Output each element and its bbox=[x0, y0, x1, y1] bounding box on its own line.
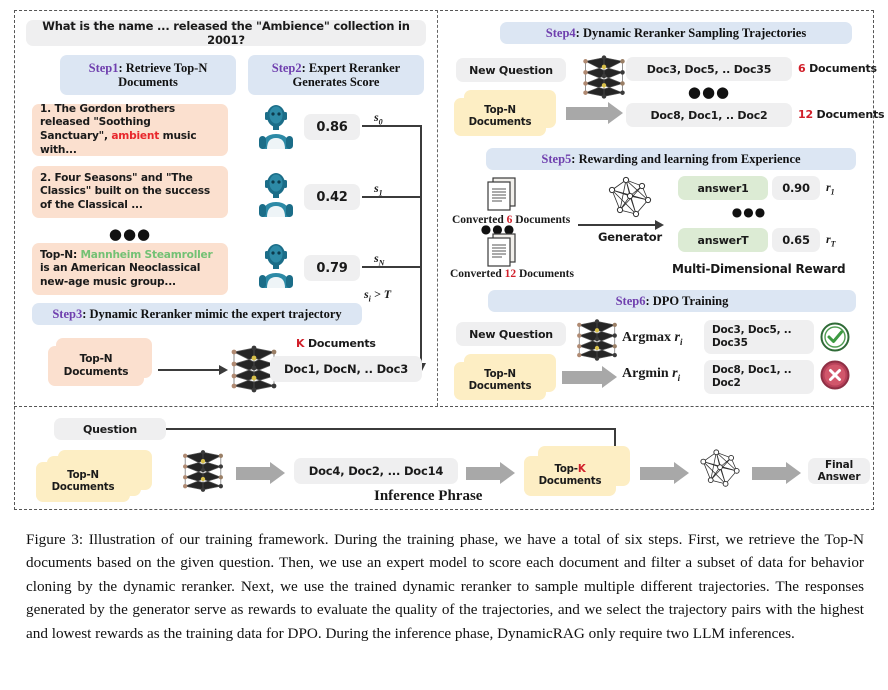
step5-answers-ellipsis: ●●● bbox=[678, 205, 820, 219]
step4-header: Step4: Dynamic Reranker Sampling Traject… bbox=[500, 22, 852, 44]
inference-topn-line2: Documents bbox=[52, 482, 115, 495]
step4-traj2-count-label: Documents bbox=[813, 108, 884, 121]
rejected-line1: Doc8, Doc1, .. bbox=[712, 364, 791, 377]
generator-arrow-line bbox=[578, 224, 656, 226]
inference-doclist: Doc4, Doc2, ... Doc14 bbox=[294, 458, 458, 484]
inference-arrow-1 bbox=[236, 462, 285, 484]
step1-header: Step1: Retrieve Top-N Documents bbox=[60, 55, 236, 95]
step2-number: Step2 bbox=[272, 61, 302, 75]
expert-score-1: 0.86 bbox=[304, 114, 360, 140]
inference-topk-line1: Top-K bbox=[554, 464, 585, 477]
step3-topn-line1: Top-N bbox=[80, 353, 113, 366]
step2-title: : Expert Reranker bbox=[302, 61, 401, 75]
converted2-num: 12 bbox=[505, 268, 517, 280]
inference-topn-card-stack: Top-N Documents bbox=[36, 450, 156, 502]
answer-t-score: 0.65 bbox=[772, 228, 820, 252]
docN-highlight: Mannheim Steamroller bbox=[80, 249, 212, 261]
figure-caption: Figure 3: Illustration of our training f… bbox=[26, 528, 864, 645]
docN-suffix: is an American Neoclassical new-age musi… bbox=[40, 262, 200, 288]
argmax-text: Argmax bbox=[622, 330, 675, 345]
generator-label: Generator bbox=[598, 230, 662, 244]
expert-robot-icon-1 bbox=[256, 104, 296, 150]
doc2-prefix: 2. Four Seasons" and "The Classics" buil… bbox=[40, 172, 210, 211]
step3-number: Step3 bbox=[52, 307, 82, 321]
score-bracket-vertical bbox=[420, 125, 422, 365]
inference-reranker-network-icon bbox=[178, 446, 228, 496]
step2-header-line2: Generates Score bbox=[293, 75, 380, 89]
converted1-post: Documents bbox=[512, 214, 570, 226]
score-symbol-2: s1 bbox=[374, 181, 383, 197]
inference-question-route-line bbox=[166, 428, 616, 430]
step4-ellipsis: ●●● bbox=[626, 83, 792, 101]
inference-generator-network-icon bbox=[694, 444, 746, 494]
score-symbol-3-sub: N bbox=[379, 258, 385, 267]
step4-number: Step4 bbox=[546, 26, 576, 40]
input-question-box: What is the name ... released the "Ambie… bbox=[26, 20, 426, 46]
inference-final-answer: Final Answer bbox=[808, 458, 870, 484]
step4-trajectory-2-count: 12 Documents bbox=[798, 108, 884, 121]
step2-header: Step2: Expert Reranker Generates Score bbox=[248, 55, 424, 95]
inference-phase-title: Inference Phrase bbox=[374, 488, 482, 505]
step4-title: : Dynamic Reranker Sampling Trajectories bbox=[576, 26, 807, 40]
step4-trajectory-1-count: 6 Documents bbox=[798, 62, 877, 75]
expert-score-3: 0.79 bbox=[304, 255, 360, 281]
threshold-rest: > T bbox=[371, 287, 391, 301]
score-line-1 bbox=[362, 125, 422, 127]
step4-topn-line1: Top-N bbox=[484, 105, 516, 118]
step3-topn-line2: Documents bbox=[64, 366, 129, 379]
topk-k: K bbox=[578, 464, 586, 475]
step6-flow-arrow bbox=[562, 366, 617, 388]
panel-vertical-divider bbox=[437, 10, 438, 406]
retrieved-document-topn: Top-N: Mannheim Steamroller is an Americ… bbox=[32, 243, 228, 295]
topk-prefix: Top- bbox=[554, 464, 577, 475]
expert-robot-icon-3 bbox=[256, 243, 296, 289]
step6-header-line1: Step6: DPO Training bbox=[616, 294, 729, 308]
converted-documents-icon-1 bbox=[485, 176, 519, 212]
generator-arrow-head bbox=[655, 220, 664, 230]
score-threshold-condition: si > T bbox=[364, 287, 391, 303]
converted2-post: Documents bbox=[516, 268, 574, 280]
argmax-label: Argmax ri bbox=[622, 330, 682, 347]
expert-robot-icon-2 bbox=[256, 172, 296, 218]
argmin-text: Argmin bbox=[622, 366, 672, 381]
doc1-highlight: ambient bbox=[111, 130, 159, 142]
step6-reranker-network-icon bbox=[572, 316, 622, 364]
step5-number: Step5 bbox=[541, 152, 571, 166]
panel-horizontal-divider bbox=[14, 406, 874, 407]
step6-header: Step6: DPO Training bbox=[488, 290, 856, 312]
step3-k-documents-label: K Documents bbox=[296, 337, 376, 350]
step4-traj2-count-value: 12 bbox=[798, 108, 813, 121]
step6-title: : DPO Training bbox=[645, 294, 728, 308]
step4-trajectory-1: Doc3, Doc5, .. Doc35 bbox=[626, 57, 792, 81]
converted-documents-label-2: Converted 12 Documents bbox=[450, 268, 574, 280]
inference-question-box: Question bbox=[54, 418, 166, 440]
step4-header-line1: Step4: Dynamic Reranker Sampling Traject… bbox=[546, 26, 806, 40]
docN-prefix: Top-N: bbox=[40, 249, 80, 261]
step6-topn-line1: Top-N bbox=[484, 369, 516, 382]
generator-network-icon bbox=[602, 172, 658, 224]
step6-chosen-trajectory: Doc3, Doc5, .. Doc35 bbox=[704, 320, 814, 354]
step1-header-line2: Documents bbox=[118, 75, 178, 89]
retrieved-document-2: 2. Four Seasons" and "The Classics" buil… bbox=[32, 166, 228, 218]
step1-title: : Retrieve Top-N bbox=[119, 61, 208, 75]
step4-new-question: New Question bbox=[456, 58, 566, 82]
step5-title: : Rewarding and learning from Experience bbox=[571, 152, 800, 166]
inference-arrow-3 bbox=[640, 462, 689, 484]
argmax-sub: i bbox=[680, 337, 683, 347]
inference-topk-line2: Documents bbox=[539, 476, 602, 489]
step1-header-line1: Step1: Retrieve Top-N bbox=[89, 61, 208, 75]
step4-topn-card-stack: Top-N Documents bbox=[454, 90, 558, 136]
step1-ellipsis: ●●● bbox=[32, 225, 228, 243]
figure-root: What is the name ... released the "Ambie… bbox=[0, 0, 888, 690]
multi-dimensional-reward-label: Multi-Dimensional Reward bbox=[672, 262, 845, 276]
cross-circle-icon bbox=[820, 360, 850, 390]
step6-number: Step6 bbox=[616, 294, 646, 308]
step6-topn-card-stack: Top-N Documents bbox=[454, 354, 558, 400]
chosen-line1: Doc3, Doc5, .. bbox=[712, 324, 791, 337]
step3-k-text: Documents bbox=[304, 337, 375, 350]
step3-topn-card-stack: Top-N Documents bbox=[48, 338, 152, 386]
score-symbol-2-sub: 1 bbox=[379, 188, 383, 197]
argmin-sub: i bbox=[678, 373, 681, 383]
chosen-line2: Doc35 bbox=[712, 337, 748, 350]
step4-topn-line2: Documents bbox=[469, 117, 532, 130]
step3-title: : Dynamic Reranker mimic the expert traj… bbox=[82, 307, 341, 321]
rejected-line2: Doc2 bbox=[712, 377, 741, 390]
converted2-pre: Converted bbox=[450, 268, 505, 280]
generated-answer-t: answerT bbox=[678, 228, 768, 252]
converted-documents-icon-2 bbox=[485, 232, 519, 268]
step6-new-question: New Question bbox=[456, 322, 566, 346]
step4-trajectory-2: Doc8, Doc1, .. Doc2 bbox=[626, 103, 792, 127]
step3-header: Step3: Dynamic Reranker mimic the expert… bbox=[32, 303, 362, 325]
rT-sub: T bbox=[831, 239, 836, 248]
step5-header: Step5: Rewarding and learning from Exper… bbox=[486, 148, 856, 170]
step1-number: Step1 bbox=[89, 61, 119, 75]
score-line-2 bbox=[362, 196, 422, 198]
score-symbol-3: sN bbox=[374, 251, 384, 267]
expert-score-2: 0.42 bbox=[304, 184, 360, 210]
step2-header-line1: Step2: Expert Reranker bbox=[272, 61, 400, 75]
answer-1-score: 0.90 bbox=[772, 176, 820, 200]
generated-answer-1: answer1 bbox=[678, 176, 768, 200]
r1-sub: 1 bbox=[831, 187, 835, 196]
inference-arrow-2 bbox=[466, 462, 515, 484]
step4-flow-arrow bbox=[566, 102, 623, 124]
step4-reranker-network-icon bbox=[578, 52, 630, 102]
step5-header-line1: Step5: Rewarding and learning from Exper… bbox=[541, 152, 800, 166]
step4-traj1-count-label: Documents bbox=[805, 62, 876, 75]
step6-topn-line2: Documents bbox=[469, 381, 532, 394]
score-line-3 bbox=[362, 266, 422, 268]
step3-header-line1: Step3: Dynamic Reranker mimic the expert… bbox=[52, 307, 341, 321]
answer-t-reward-symbol: rT bbox=[826, 232, 836, 248]
score-symbol-1-sub: 0 bbox=[379, 117, 383, 126]
inference-arrow-4 bbox=[752, 462, 801, 484]
retrieved-document-1: 1. The Gordon brothers released "Soothin… bbox=[32, 104, 228, 156]
answer-1-reward-symbol: r1 bbox=[826, 180, 835, 196]
step6-rejected-trajectory: Doc8, Doc1, .. Doc2 bbox=[704, 360, 814, 394]
argmin-label: Argmin ri bbox=[622, 366, 680, 383]
check-circle-icon bbox=[820, 322, 850, 352]
inference-topk-card-stack: Top-K Documents bbox=[524, 446, 634, 498]
inference-topn-line1: Top-N bbox=[67, 470, 99, 483]
step3-arrow-line bbox=[158, 369, 220, 371]
step3-output-documents: Doc1, DocN, .. Doc3 bbox=[270, 356, 422, 382]
score-symbol-1: s0 bbox=[374, 110, 383, 126]
